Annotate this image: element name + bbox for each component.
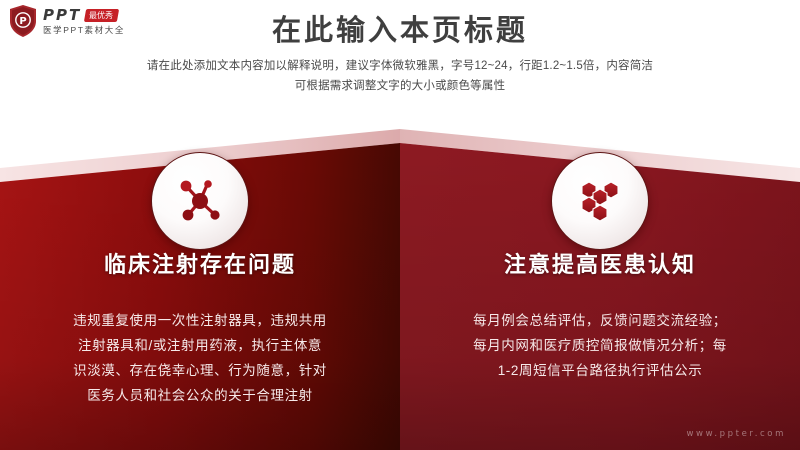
body-line: 每月内网和医疗质控简报做情况分析；每 — [400, 333, 800, 358]
body-line: 1-2周短信平台路径执行评估公示 — [400, 358, 800, 383]
icon-circle-left[interactable] — [151, 152, 249, 250]
section-right-body: 每月例会总结评估，反馈问题交流经验； 每月内网和医疗质控简报做情况分析；每 1-… — [400, 308, 800, 383]
molecule-icon — [173, 174, 227, 228]
body-line: 识淡漠、存在侥幸心理、行为随意，针对 — [0, 358, 400, 383]
subtitle-line-2: 可根据需求调整文字的大小或颜色等属性 — [0, 76, 800, 96]
slide-canvas: P PPT 最优秀 医学PPT素材大全 在此输入本页标题 请在此处添加文本内容加… — [0, 0, 800, 450]
section-right-heading: 注意提高医患认知 — [400, 250, 800, 280]
subtitle-line-1: 请在此处添加文本内容加以解释说明，建议字体微软雅黑，字号12~24，行距1.2~… — [0, 56, 800, 76]
body-line: 违规重复使用一次性注射器具，违规共用 — [0, 308, 400, 333]
header: 在此输入本页标题 请在此处添加文本内容加以解释说明，建议字体微软雅黑，字号12~… — [0, 0, 800, 96]
honeycomb-icon — [573, 174, 627, 228]
page-subtitle: 请在此处添加文本内容加以解释说明，建议字体微软雅黑，字号12~24，行距1.2~… — [0, 56, 800, 96]
body-line: 每月例会总结评估，反馈问题交流经验； — [400, 308, 800, 333]
body-line: 医务人员和社会公众的关于合理注射 — [0, 383, 400, 408]
body-line: 注射器具和/或注射用药液，执行主体意 — [0, 333, 400, 358]
page-title: 在此输入本页标题 — [0, 14, 800, 48]
footer-watermark: www.ppter.com — [686, 429, 786, 439]
icon-circle-right[interactable] — [551, 152, 649, 250]
section-left-body: 违规重复使用一次性注射器具，违规共用 注射器具和/或注射用药液，执行主体意 识淡… — [0, 308, 400, 408]
section-left-heading: 临床注射存在问题 — [0, 250, 400, 280]
